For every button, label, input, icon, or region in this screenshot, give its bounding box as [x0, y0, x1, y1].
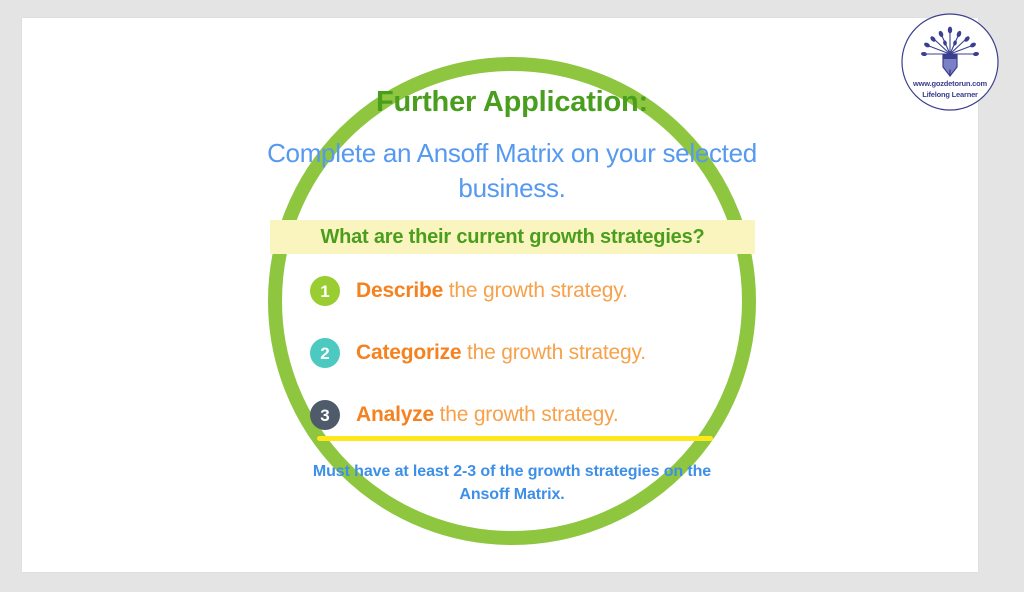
- question-text: What are their current growth strategies…: [320, 226, 704, 249]
- step-number-badge-1: 1: [310, 276, 340, 306]
- logo-url-text: www.gozdetorun.com: [898, 79, 1002, 88]
- brand-logo: www.gozdetorun.com Lifelong Learner: [898, 10, 1002, 114]
- step-rest-2: the growth strategy.: [461, 341, 646, 364]
- step-text-2: Categorize the growth strategy.: [356, 341, 646, 365]
- question-highlight-band: What are their current growth strategies…: [270, 220, 755, 254]
- step-keyword-3: Analyze: [356, 403, 434, 426]
- list-item: 2 Categorize the growth strategy.: [310, 322, 730, 384]
- step-number-badge-2: 2: [310, 338, 340, 368]
- footnote-text: Must have at least 2-3 of the growth str…: [312, 460, 712, 506]
- step-number-badge-3: 3: [310, 400, 340, 430]
- slide-content: Further Application: Complete an Ansoff …: [0, 0, 1024, 592]
- list-item: 1 Describe the growth strategy.: [310, 260, 730, 322]
- page-title: Further Application:: [0, 86, 1024, 119]
- step-rest-1: the growth strategy.: [443, 279, 628, 302]
- step-rest-3: the growth strategy.: [434, 403, 619, 426]
- step-text-1: Describe the growth strategy.: [356, 279, 628, 303]
- step-keyword-1: Describe: [356, 279, 443, 302]
- step-keyword-2: Categorize: [356, 341, 461, 364]
- slide-canvas: Further Application: Complete an Ansoff …: [0, 0, 1024, 592]
- logo-tagline-text: Lifelong Learner: [898, 90, 1002, 99]
- yellow-divider: [317, 436, 713, 441]
- steps-list: 1 Describe the growth strategy. 2 Catego…: [310, 260, 730, 446]
- step-text-3: Analyze the growth strategy.: [356, 403, 618, 427]
- slide-subtitle: Complete an Ansoff Matrix on your select…: [262, 136, 762, 205]
